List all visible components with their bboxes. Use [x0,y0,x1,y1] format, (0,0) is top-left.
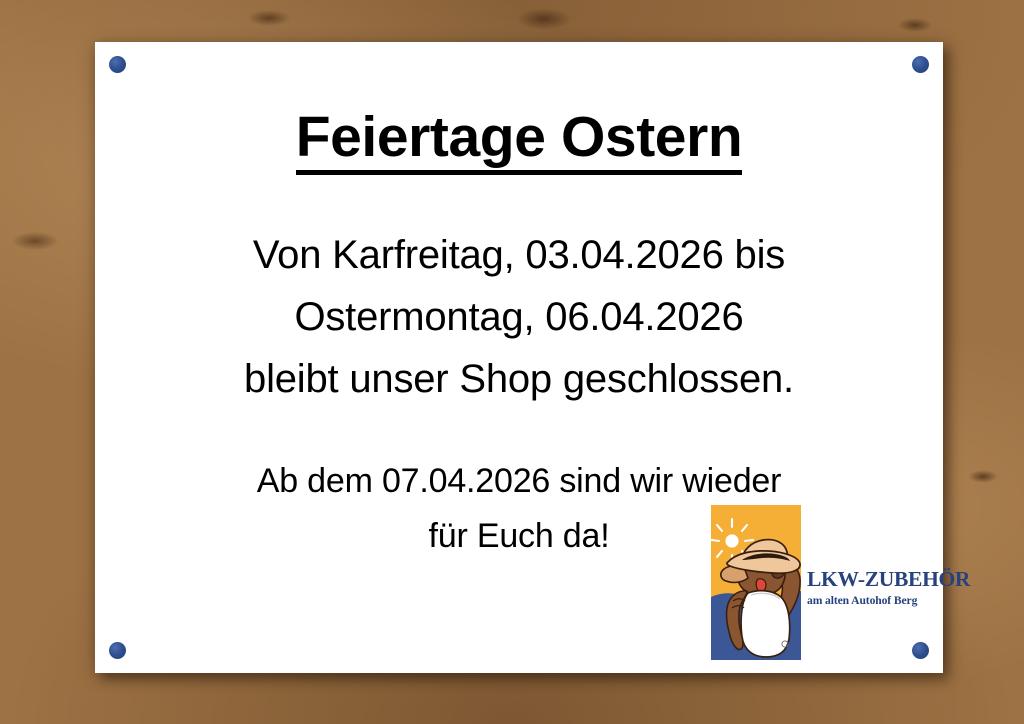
closure-notice-line-2: Ostermontag, 06.04.2026 [95,286,943,348]
cowboy-dog-mascot-icon [711,505,801,660]
page-title: Feiertage Ostern [95,104,943,175]
company-logo: LKW-ZUBEHÖR am alten Autohof Berg [711,505,943,660]
logo-mascot-mark [711,505,801,660]
page-title-text: Feiertage Ostern [296,108,743,175]
sign-content: Feiertage Ostern Von Karfreitag, 03.04.2… [95,42,943,673]
poster-canvas: Feiertage Ostern Von Karfreitag, 03.04.2… [0,0,1024,724]
logo-tagline: am alten Autohof Berg [807,595,943,607]
notice-sign: Feiertage Ostern Von Karfreitag, 03.04.2… [95,42,943,673]
logo-wordmark: LKW-ZUBEHÖR am alten Autohof Berg [807,569,943,606]
closure-notice-line-3: bleibt unser Shop geschlossen. [95,348,943,410]
reopening-notice-line-1: Ab dem 07.04.2026 sind wir wieder [95,454,943,509]
closure-notice-paragraph: Von Karfreitag, 03.04.2026 bis Ostermont… [95,224,943,410]
logo-company-name: LKW-ZUBEHÖR [807,569,943,591]
sun-disc-icon [725,534,738,547]
closure-notice-line-1: Von Karfreitag, 03.04.2026 bis [95,224,943,286]
